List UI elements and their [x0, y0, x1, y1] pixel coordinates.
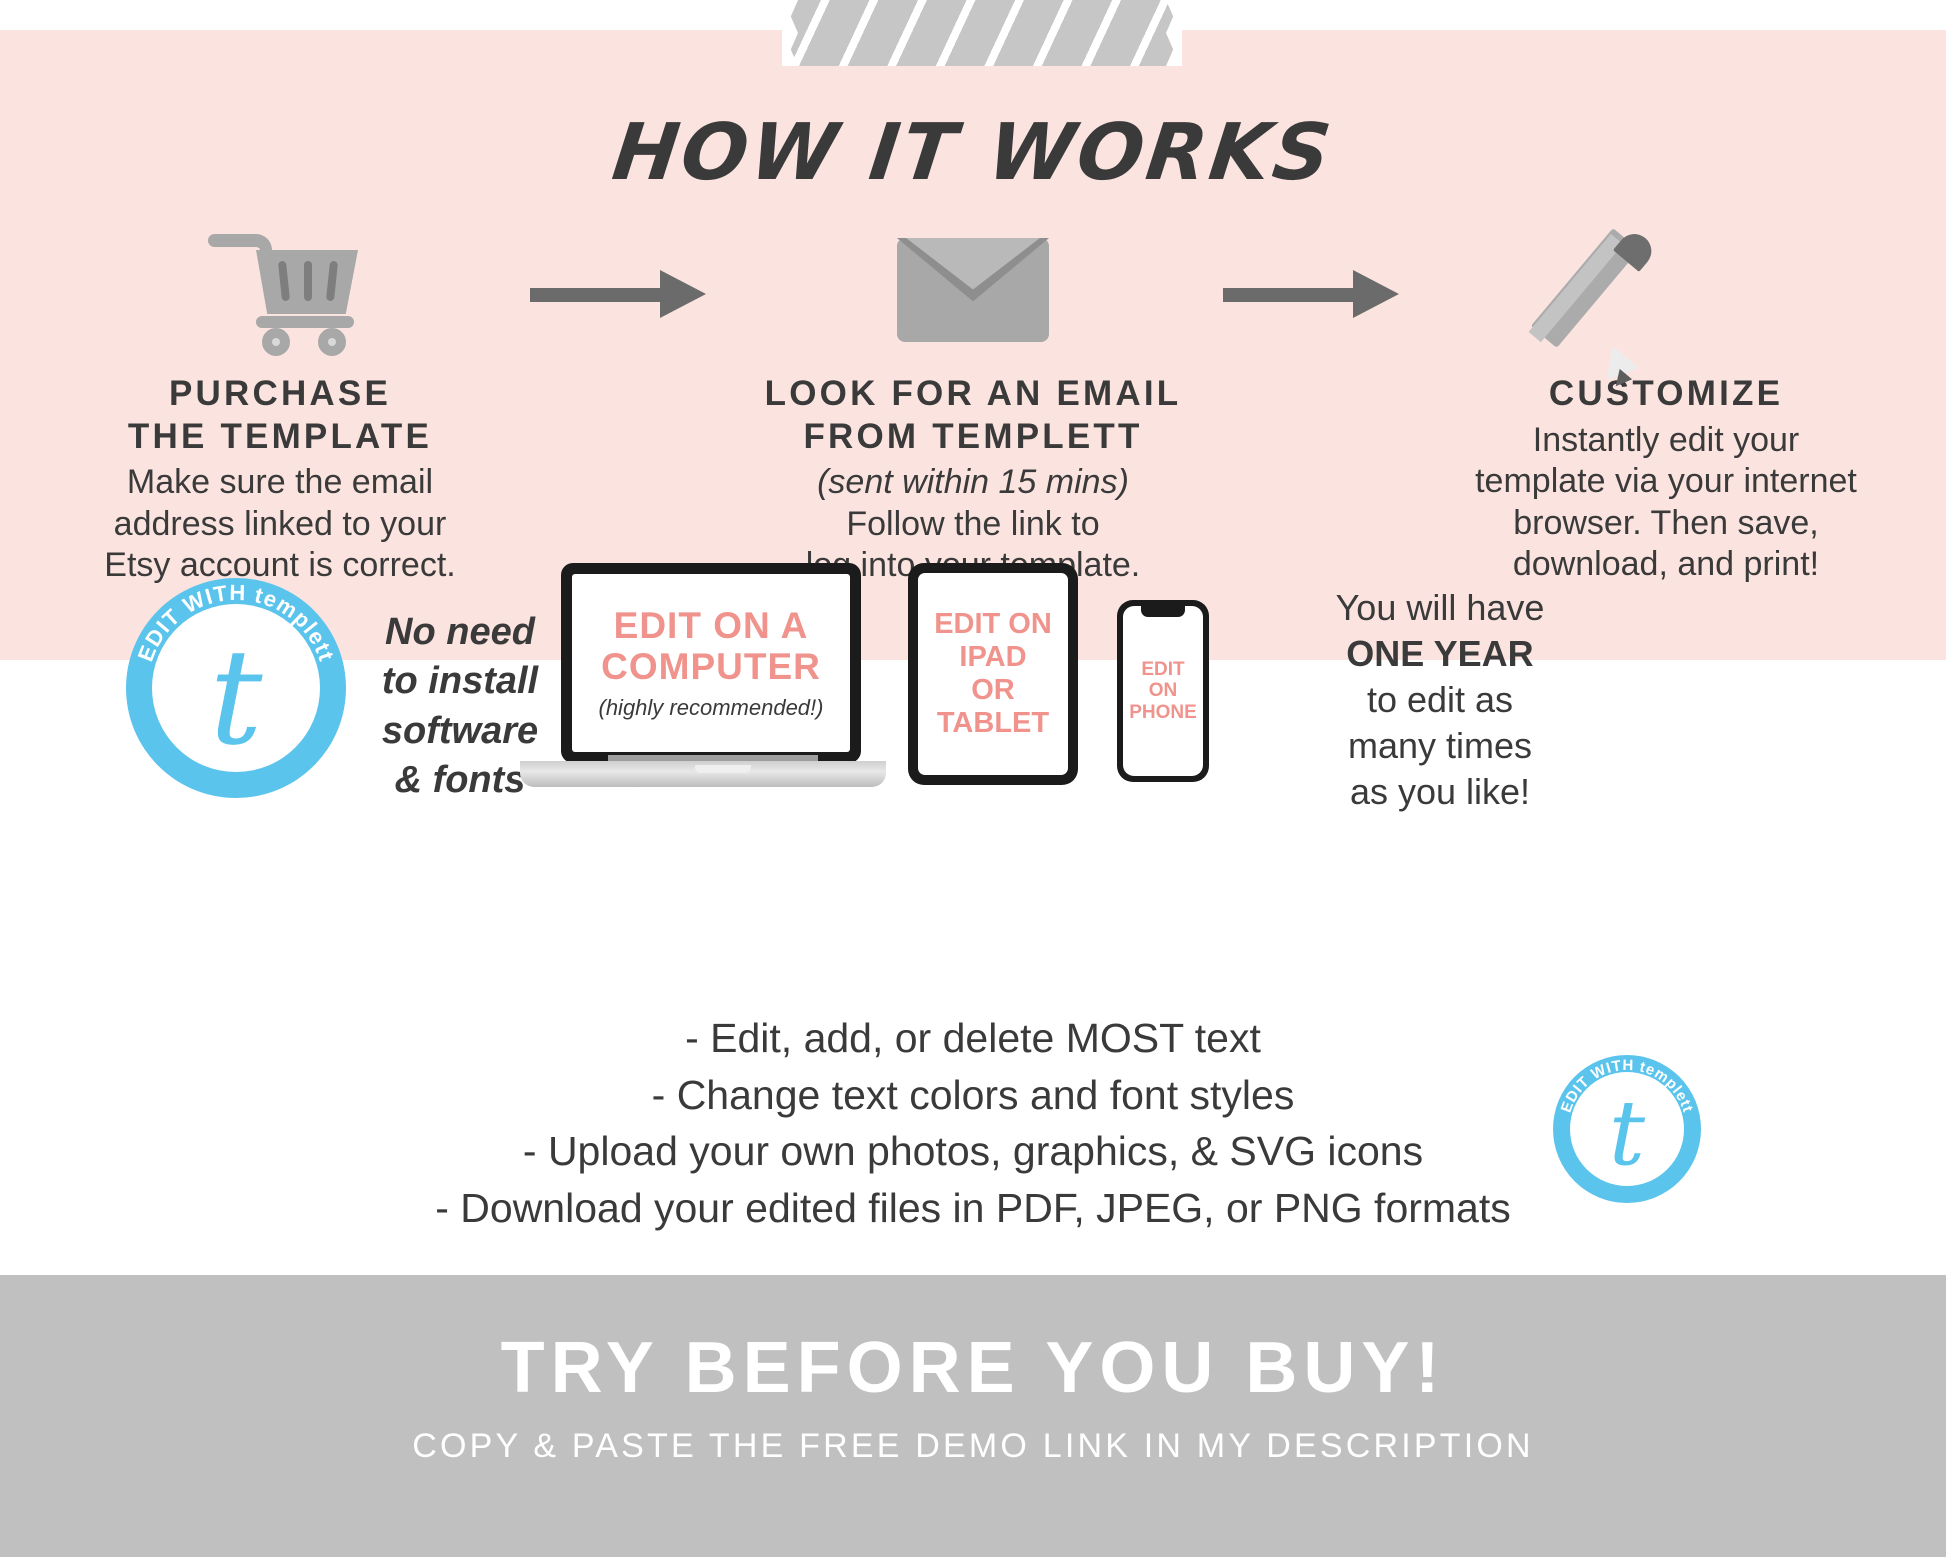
steps-row: PURCHASE THE TEMPLATE Make sure the emai… — [0, 225, 1946, 587]
one-year-line1: You will have — [1225, 585, 1655, 631]
page-title: HOW IT WORKS — [0, 108, 1946, 198]
laptop-trackpad-notch — [695, 765, 751, 773]
step-purchase-body-line2: address linked to your — [0, 504, 560, 545]
laptop-screen-line2: COMPUTER — [601, 646, 821, 687]
pencil-icon — [1591, 229, 1741, 351]
phone-screen-text: EDIT ON PHONE — [1129, 659, 1197, 723]
phone-mockup: EDIT ON PHONE — [1117, 600, 1209, 782]
no-install-line3: software — [360, 707, 560, 756]
one-year-highlight: ONE YEAR — [1346, 633, 1533, 674]
tablet-line2: IPAD — [934, 641, 1052, 674]
step-customize-heading-line1: CUSTOMIZE — [1386, 373, 1946, 416]
step-customize-body-line1: Instantly edit your — [1386, 420, 1946, 461]
one-year-line5: as you like! — [1225, 769, 1655, 815]
no-install-line1: No need — [360, 608, 560, 657]
step-customize-body-line2: template via your internet — [1386, 461, 1946, 502]
step-purchase-heading-line1: PURCHASE — [0, 373, 560, 416]
footer-banner: TRY BEFORE YOU BUY! COPY & PASTE THE FRE… — [0, 1275, 1946, 1557]
phone-line3: PHONE — [1129, 702, 1197, 723]
one-year-line4: many times — [1225, 723, 1655, 769]
washi-tape-icon — [782, 0, 1182, 66]
washi-tape-right-edge — [1166, 0, 1182, 66]
arrow-shaft — [1223, 288, 1363, 302]
step-customize: CUSTOMIZE Instantly edit your template v… — [1386, 225, 1946, 586]
shopping-cart-icon — [200, 228, 360, 352]
arrow-shaft — [530, 288, 670, 302]
step-purchase-body: Make sure the email address linked to yo… — [0, 462, 560, 586]
tablet-mockup: EDIT ON IPAD OR TABLET — [908, 563, 1078, 785]
step-purchase-icon-slot — [0, 225, 560, 355]
step-email-body-line1: (sent within 15 mins) — [693, 462, 1253, 503]
step-email-icon-slot — [693, 225, 1253, 355]
laptop-lid: EDIT ON A COMPUTER (highly recommended!) — [561, 563, 861, 763]
footer-title: TRY BEFORE YOU BUY! — [0, 1327, 1946, 1409]
one-year-line3: to edit as — [1225, 677, 1655, 723]
step-purchase-heading: PURCHASE THE TEMPLATE — [0, 373, 560, 458]
footer-subtitle: COPY & PASTE THE FREE DEMO LINK IN MY DE… — [0, 1427, 1946, 1466]
laptop-screen-line1: EDIT ON A — [601, 605, 821, 646]
envelope-icon — [897, 238, 1049, 342]
step-customize-body: Instantly edit your template via your in… — [1386, 420, 1946, 586]
laptop-screen: EDIT ON A COMPUTER (highly recommended!) — [572, 574, 850, 752]
cart-rail — [256, 316, 354, 328]
step-email-heading-line2: FROM TEMPLETT — [693, 416, 1253, 459]
step-customize-icon-slot — [1386, 225, 1946, 355]
tablet-line4: TABLET — [934, 707, 1052, 740]
washi-tape-left-edge — [782, 0, 798, 66]
badge-letter-t: t — [1553, 1089, 1701, 1179]
arrow-slot-1 — [560, 225, 693, 355]
laptop-screen-heading: EDIT ON A COMPUTER — [601, 605, 821, 688]
badge-letter-t: t — [126, 632, 346, 764]
step-email-heading-line1: LOOK FOR AN EMAIL — [693, 373, 1253, 416]
step-email-body-line2: Follow the link to — [693, 504, 1253, 545]
step-purchase-body-line1: Make sure the email — [0, 462, 560, 503]
templett-badge-footer: EDIT WITH templett EDITABLE TEMPLATE t — [1553, 1055, 1701, 1203]
pencil-body-highlight — [1529, 234, 1624, 342]
tablet-screen-text: EDIT ON IPAD OR TABLET — [934, 608, 1052, 740]
phone-line1: EDIT — [1129, 659, 1197, 680]
phone-line2: ON — [1129, 680, 1197, 701]
laptop-mockup: EDIT ON A COMPUTER (highly recommended!) — [553, 563, 883, 793]
phone-notch — [1141, 606, 1185, 617]
phone-frame: EDIT ON PHONE — [1117, 600, 1209, 782]
tablet-frame: EDIT ON IPAD OR TABLET — [908, 563, 1078, 785]
step-purchase-heading-line2: THE TEMPLATE — [0, 416, 560, 459]
step-customize-body-line4: download, and print! — [1386, 544, 1946, 585]
step-customize-body-line3: browser. Then save, — [1386, 503, 1946, 544]
step-email-heading: LOOK FOR AN EMAIL FROM TEMPLETT — [693, 373, 1253, 458]
step-look-for-email: LOOK FOR AN EMAIL FROM TEMPLETT (sent wi… — [693, 225, 1253, 587]
cart-wheel — [318, 328, 346, 356]
cart-wheel — [262, 328, 290, 356]
arrow-slot-2 — [1253, 225, 1386, 355]
step-purchase: PURCHASE THE TEMPLATE Make sure the emai… — [0, 225, 560, 587]
how-it-works-infographic: HOW IT WORKS — [0, 0, 1946, 1557]
cart-bar — [304, 261, 312, 301]
no-install-line2: to install — [360, 657, 560, 706]
tablet-line1: EDIT ON — [934, 608, 1052, 641]
phone-screen: EDIT ON PHONE — [1123, 606, 1203, 776]
tablet-line3: OR — [934, 674, 1052, 707]
laptop-screen-subtext: (highly recommended!) — [599, 695, 824, 721]
step-customize-heading: CUSTOMIZE — [1386, 373, 1946, 416]
one-year-note: You will have ONE YEAR to edit as many t… — [1225, 585, 1655, 815]
tablet-screen: EDIT ON IPAD OR TABLET — [918, 573, 1068, 775]
templett-badge: EDIT WITH templett EDITABLE TEMPLATE t — [126, 578, 346, 798]
